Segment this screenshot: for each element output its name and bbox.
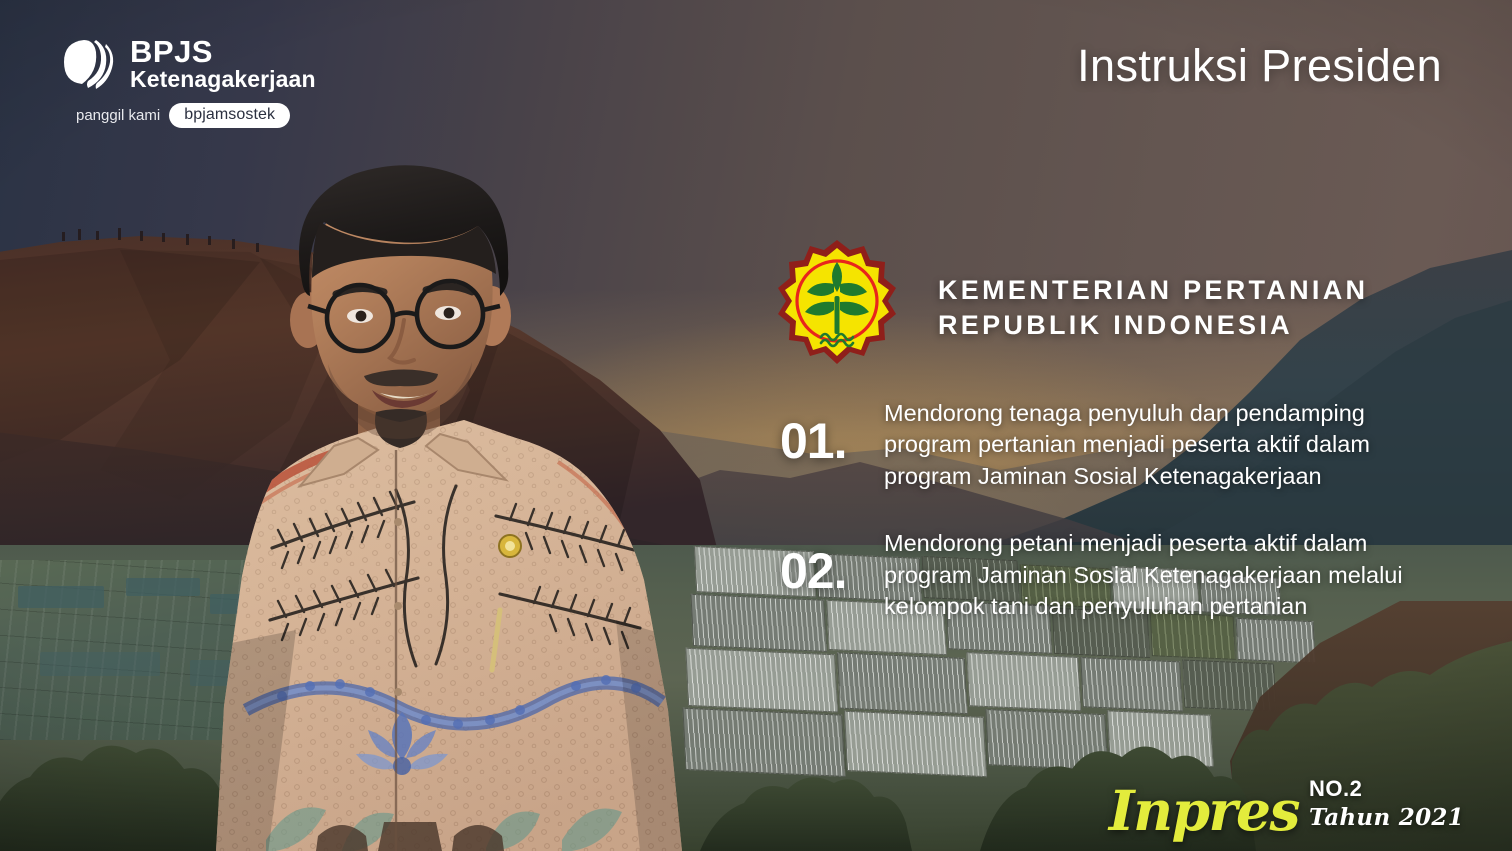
- bpjs-logo: BPJS Ketenagakerjaan panggil kami bpjams…: [56, 34, 316, 128]
- kementan-emblem-icon: [776, 238, 898, 378]
- inpres-meta: NO.2 Tahun 2021: [1309, 776, 1464, 837]
- ministry-block: KEMENTERIAN PERTANIAN REPUBLIK INDONESIA: [776, 238, 1368, 378]
- list-item: 01. Mendorong tenaga penyuluh dan pendam…: [780, 398, 1480, 492]
- bpjs-name-line1: BPJS: [130, 36, 316, 68]
- bpjs-wordmark: BPJS Ketenagakerjaan: [130, 36, 316, 91]
- bpjs-tagline: panggil kami bpjamsostek: [76, 103, 290, 128]
- point-text: Mendorong petani menjadi peserta aktif d…: [884, 528, 1403, 622]
- point-number: 01.: [780, 398, 884, 470]
- infographic-slide: BPJS Ketenagakerjaan panggil kami bpjams…: [0, 0, 1512, 851]
- inpres-script-text: Inpres: [1109, 786, 1299, 837]
- inpres-number: NO.2: [1309, 776, 1464, 802]
- inpres-badge: Inpres NO.2 Tahun 2021: [1109, 776, 1464, 837]
- ministry-name-line2: REPUBLIK INDONESIA: [938, 308, 1368, 343]
- list-item: 02. Mendorong petani menjadi peserta akt…: [780, 528, 1480, 622]
- bpjs-name-line2: Ketenagakerjaan: [130, 68, 316, 91]
- point-text: Mendorong tenaga penyuluh dan pendamping…: [884, 398, 1370, 492]
- ministry-name: KEMENTERIAN PERTANIAN REPUBLIK INDONESIA: [938, 273, 1368, 343]
- page-title: Instruksi Presiden: [1077, 40, 1442, 92]
- bpjs-tagline-prefix: panggil kami: [76, 107, 160, 124]
- bpjamsostek-pill: bpjamsostek: [169, 103, 290, 128]
- inpres-year: Tahun 2021: [1309, 804, 1464, 831]
- bpjs-leaf-mark-icon: [56, 34, 118, 94]
- minister-portrait-icon: [96, 150, 716, 851]
- ministry-name-line1: KEMENTERIAN PERTANIAN: [938, 273, 1368, 308]
- point-number: 02.: [780, 528, 884, 600]
- instruction-list: 01. Mendorong tenaga penyuluh dan pendam…: [780, 398, 1480, 659]
